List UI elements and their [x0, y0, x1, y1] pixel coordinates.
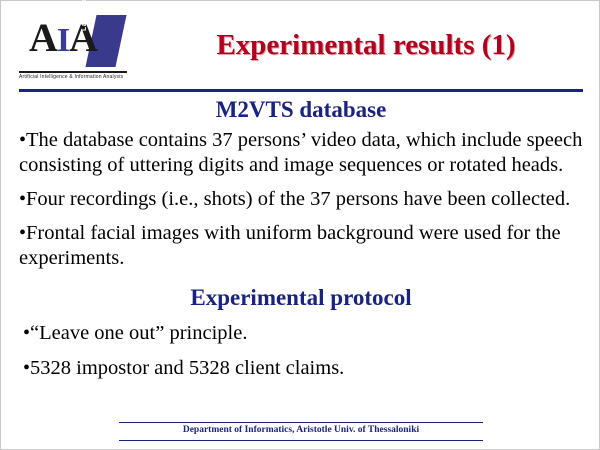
bullet-icon: • [19, 222, 26, 244]
bullet-icon: • [19, 129, 26, 151]
bullet-text: Frontal facial images with uniform backg… [19, 222, 561, 269]
bullet-icon: • [23, 322, 30, 344]
title-divider [19, 89, 583, 92]
bullet-paragraph: •The database contains 37 persons’ video… [19, 128, 583, 178]
bullet-icon: • [19, 188, 26, 210]
bullet-text: “Leave one out” principle. [30, 322, 247, 344]
footer-divider-bottom [119, 440, 483, 441]
logo-caption: Artificial Intelligence & Information An… [19, 74, 139, 80]
bullet-paragraph: •Frontal facial images with uniform back… [19, 221, 583, 271]
slide-body: M2VTS database •The database contains 37… [19, 93, 583, 381]
logo-vertical-label: Laboratory [81, 0, 129, 31]
section-heading-protocol: Experimental protocol [19, 285, 583, 311]
bullet-text: Four recordings (i.e., shots) of the 37 … [26, 188, 570, 210]
logo-letter-a1: A [29, 15, 57, 60]
bullet-paragraph: •Four recordings (i.e., shots) of the 37… [19, 187, 583, 212]
page-title: Experimental results (1) [151, 29, 581, 62]
logo-letter-i: I [57, 22, 69, 59]
bullet-icon: • [23, 357, 30, 379]
bullet-paragraph: •“Leave one out” principle. [19, 321, 583, 346]
footer-text: Department of Informatics, Aristotle Uni… [119, 425, 483, 435]
aiia-logo: AIA Laboratory Artificial Intelligence &… [19, 15, 139, 87]
section-heading-database: M2VTS database [19, 97, 583, 123]
bullet-text: 5328 impostor and 5328 client claims. [30, 357, 344, 379]
footer-divider-top [119, 422, 483, 423]
bullet-text: The database contains 37 persons’ video … [19, 129, 582, 176]
logo-underline [19, 71, 127, 73]
slide: AIA Laboratory Artificial Intelligence &… [0, 0, 600, 450]
bullet-paragraph: •5328 impostor and 5328 client claims. [19, 356, 583, 381]
logo-frame: AIA Laboratory [29, 15, 125, 71]
